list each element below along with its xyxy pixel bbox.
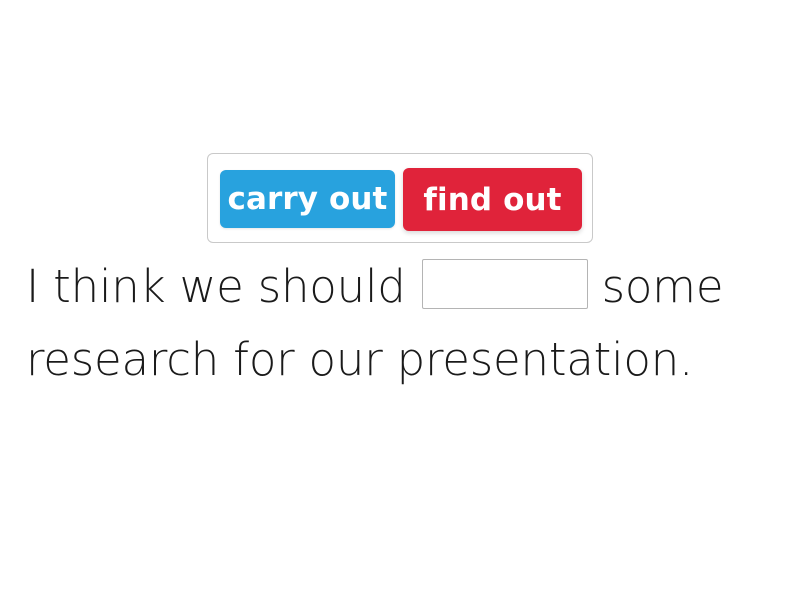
sentence-text-before-gap: I think we should — [26, 260, 406, 313]
sentence-line-1: I think we shouldsome — [26, 250, 778, 323]
sentence-line-2: research for our presentation. — [26, 323, 778, 396]
answer-tile-carry-out-label: carry out — [228, 181, 388, 217]
activity-stage: carry out find out I think we shouldsome… — [0, 0, 800, 600]
gap-dropzone[interactable] — [422, 259, 588, 309]
answer-tile-carry-out[interactable]: carry out — [220, 170, 395, 228]
sentence-text-line2: research for our presentation. — [26, 333, 693, 386]
answer-tile-find-out[interactable]: find out — [403, 168, 582, 231]
sentence-text-after-gap: some — [602, 260, 724, 313]
sentence-block: I think we shouldsome research for our p… — [26, 250, 778, 396]
answer-tile-find-out-label: find out — [423, 182, 561, 218]
